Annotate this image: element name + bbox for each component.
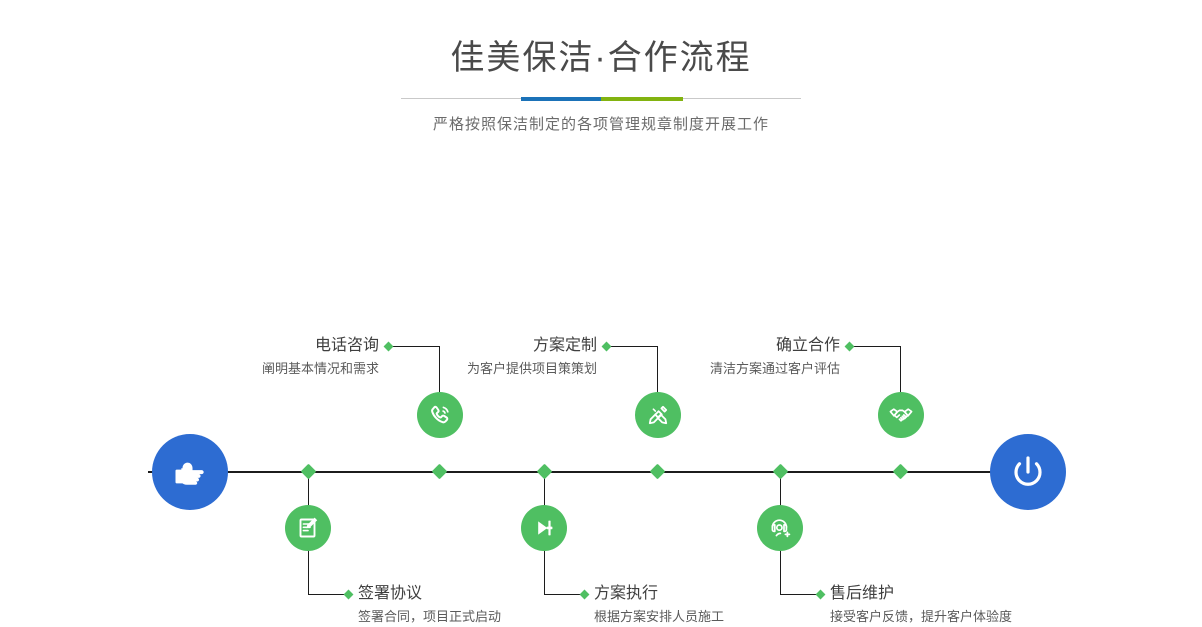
step-node-3[interactable] — [635, 392, 681, 438]
timeline-marker-3 — [650, 464, 666, 480]
divider-segment-blue — [521, 97, 601, 101]
timeline-marker-6 — [773, 464, 789, 480]
process-flow-diagram: 电话咨询 阐明基本情况和需求 签署协议 签署合同，项目正式启动 — [0, 150, 1202, 502]
timeline-marker-2 — [301, 464, 317, 480]
handshake-icon — [887, 401, 915, 429]
pencil-ruler-icon — [644, 401, 672, 429]
step-title-6: 售后维护 — [830, 584, 1150, 604]
page-title: 佳美保洁·合作流程 — [0, 0, 1202, 79]
title-divider — [401, 97, 801, 101]
connector-vertical-5 — [900, 346, 901, 392]
step-node-4[interactable] — [521, 505, 567, 551]
step-label-6[interactable]: 售后维护 接受客户反馈，提升客户体验度 — [830, 584, 1150, 627]
document-sign-icon — [294, 514, 322, 542]
step-label-3[interactable]: 方案定制 为客户提供项目策策划 — [317, 336, 597, 379]
page-subtitle: 严格按照保洁制定的各项管理规章制度开展工作 — [0, 101, 1202, 134]
label-bullet-5 — [845, 342, 855, 352]
step-desc-3: 为客户提供项目策策划 — [317, 359, 597, 379]
step-title-5: 确立合作 — [560, 336, 840, 356]
power-icon — [1006, 450, 1050, 494]
timeline-axis — [148, 471, 1054, 473]
timeline-marker-4 — [537, 464, 553, 480]
step-title-3: 方案定制 — [317, 336, 597, 356]
play-execute-icon — [530, 514, 558, 542]
page-header: 佳美保洁·合作流程 严格按照保洁制定的各项管理规章制度开展工作 — [0, 0, 1202, 134]
divider-segment-green — [601, 97, 683, 101]
step-node-6[interactable] — [757, 505, 803, 551]
phone-call-icon — [426, 401, 454, 429]
step-desc-5: 清洁方案通过客户评估 — [560, 359, 840, 379]
step-node-2[interactable] — [285, 505, 331, 551]
label-bullet-2 — [344, 590, 354, 600]
timeline-marker-1 — [432, 464, 448, 480]
step-desc-6: 接受客户反馈，提升客户体验度 — [830, 607, 1150, 627]
step-label-5[interactable]: 确立合作 清洁方案通过客户评估 — [560, 336, 840, 379]
timeline-marker-5 — [893, 464, 909, 480]
connector-horizontal-5 — [850, 346, 901, 347]
flow-start-endpoint[interactable] — [152, 434, 228, 510]
step-node-5[interactable] — [878, 392, 924, 438]
customer-support-add-icon — [766, 514, 794, 542]
step-node-1[interactable] — [417, 392, 463, 438]
flow-end-endpoint[interactable] — [990, 434, 1066, 510]
pointing-hand-icon — [169, 451, 211, 493]
